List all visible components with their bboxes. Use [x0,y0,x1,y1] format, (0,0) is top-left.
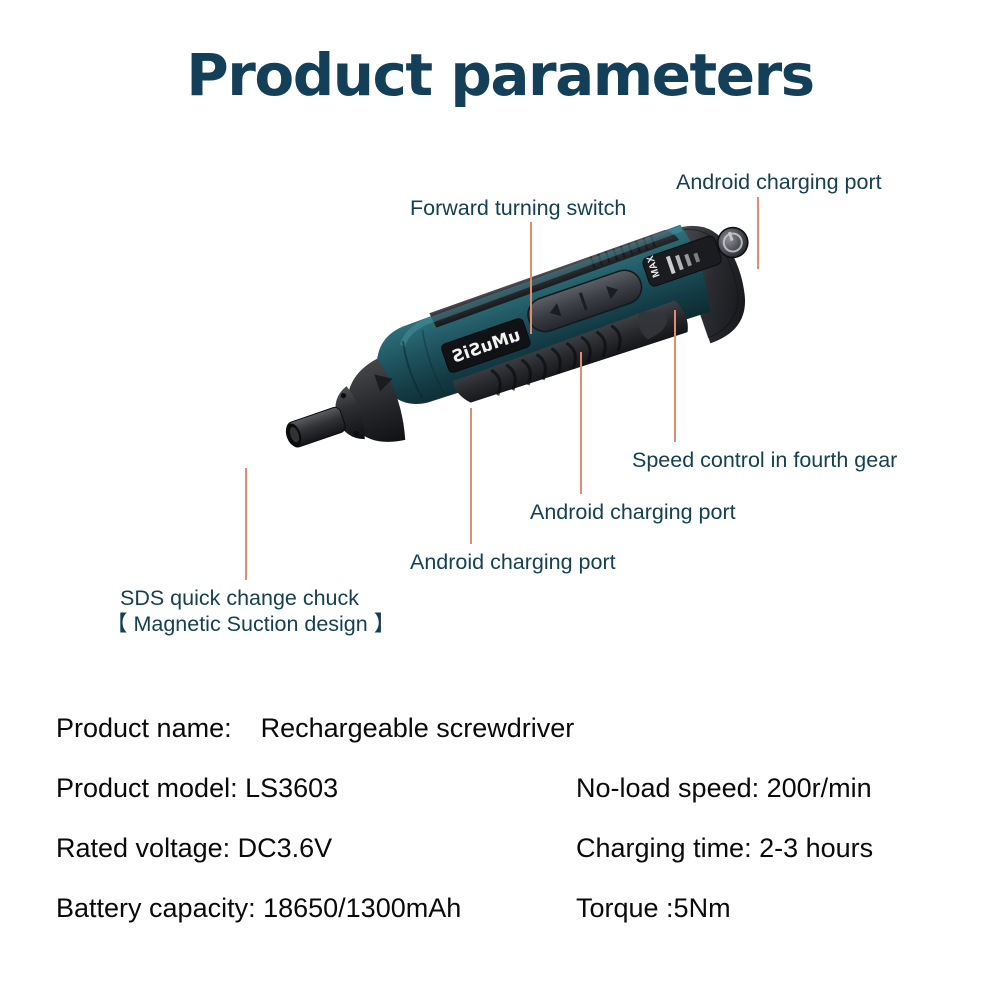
spec-rated-voltage: Rated voltage: DC3.6V [56,833,332,864]
specifications-list: Product name: Rechargeable screwdriver P… [56,713,976,953]
callout-forward-turning-switch: Forward turning switch [410,194,626,222]
callout-android-charging-port-bottom: Android charging port [410,548,616,576]
spec-torque: Torque :5Nm [576,893,731,924]
spec-battery-capacity: Battery capacity: 18650/1300mAh [56,893,461,924]
spec-product-model: Product model: LS3603 [56,773,338,804]
callout-sds-chuck-line2: 【 Magnetic Suction design 】 [106,610,395,638]
spec-product-name-label: Product name: [56,713,232,743]
leader-speed-control-fourth-gear [674,310,676,442]
callout-android-charging-port-mid: Android charging port [530,498,736,526]
spec-charging-time: Charging time: 2-3 hours [576,833,873,864]
leader-android-charging-port-top [757,197,759,269]
leader-sds-chuck [245,468,247,580]
callout-speed-control-fourth-gear: Speed control in fourth gear [632,446,897,474]
leader-android-charging-port-mid [580,352,582,494]
leader-forward-turning-switch [530,222,532,334]
callout-sds-chuck-line1: SDS quick change chuck [120,584,359,612]
spec-no-load-speed: No-load speed: 200r/min [576,773,872,804]
page-title: Product parameters [0,46,1000,104]
leader-android-charging-port-bottom [470,408,472,544]
spec-product-name-value: Rechargeable screwdriver [261,713,575,743]
callout-android-charging-port-top: Android charging port [676,168,882,196]
spec-product-name: Product name: Rechargeable screwdriver [56,713,574,744]
infographic-page: Product parameters [0,0,1000,1000]
